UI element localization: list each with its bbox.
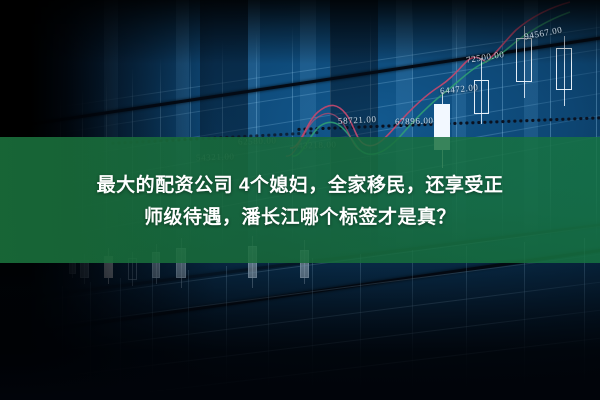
page-title-line-2: 师级待遇，潘长江哪个标签才是真？	[0, 202, 600, 234]
page-title-line-1: 最大的配资公司 4个媳妇，全家移民，还享受正	[0, 170, 600, 202]
page-title: 最大的配资公司 4个媳妇，全家移民，还享受正 师级待遇，潘长江哪个标签才是真？	[0, 170, 600, 234]
chart-background-banner: 94567.00 72500.00 64472.00 58721.00 6789…	[0, 0, 600, 400]
price-label: 67896.00	[395, 115, 434, 126]
price-label: 58721.00	[338, 114, 377, 126]
